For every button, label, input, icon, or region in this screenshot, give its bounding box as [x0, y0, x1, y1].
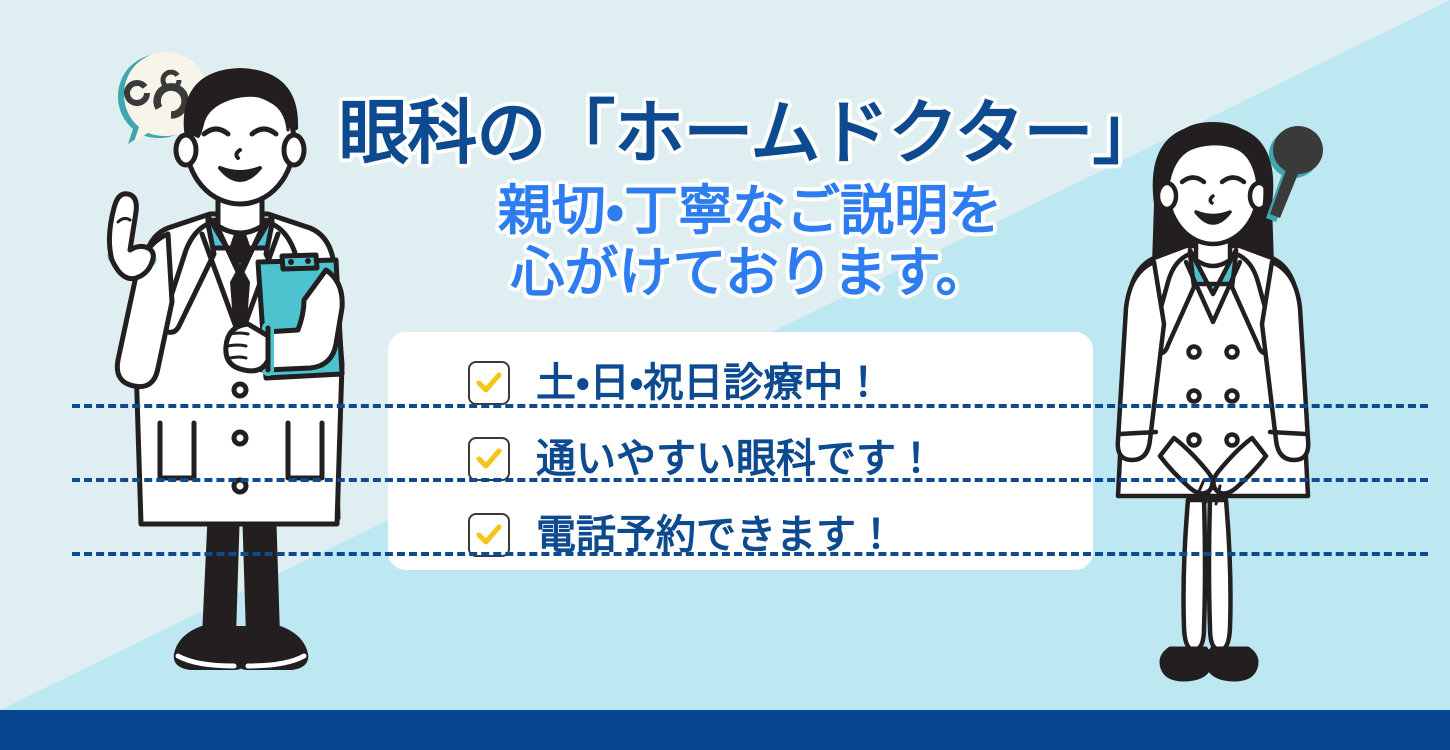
male-doctor-illustration — [90, 38, 390, 703]
feature-label-1: 土・日・祝日診療中！ — [536, 363, 883, 403]
checkbox-checked-icon[interactable] — [468, 437, 510, 481]
bottom-accent-bar — [0, 710, 1450, 750]
feature-divider-3 — [72, 552, 1428, 560]
feature-label-2: 通いやすい眼科です！ — [536, 439, 936, 479]
feature-label-3: 電話予約できます！ — [536, 515, 896, 555]
banner-root: 眼科の「ホームドクター」 親切・丁寧なご説明を 心がけております。 土・日・祝日… — [0, 0, 1450, 750]
feature-divider-1 — [72, 404, 1428, 412]
checkbox-checked-icon[interactable] — [468, 361, 510, 405]
eye-occluder-icon — [1250, 120, 1330, 230]
checkbox-checked-icon[interactable] — [468, 513, 510, 557]
feature-divider-2 — [72, 478, 1428, 486]
feature-card: 土・日・祝日診療中！ 通いやすい眼科です！ 電話予約できます！ — [388, 332, 1093, 570]
